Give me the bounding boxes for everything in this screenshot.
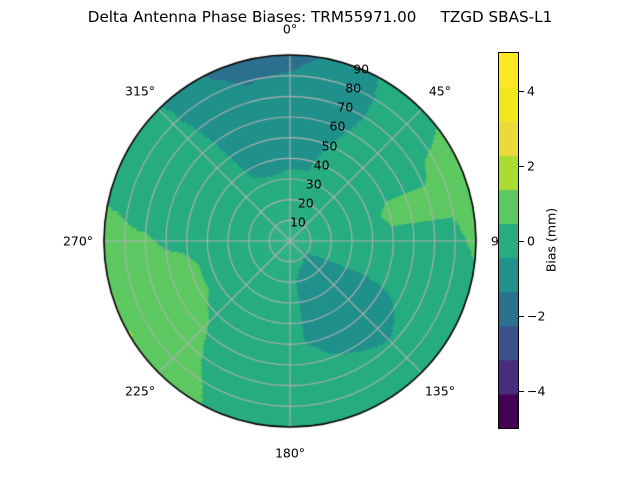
colorbar: 420−2−4 [499,53,518,428]
zenith-tick-label-40: 40 [314,157,330,172]
zenith-tick-label-20: 20 [298,195,314,210]
azimuth-tick-label-0: 0° [283,22,297,37]
colorbar-gradient [498,52,519,429]
colorbar-tick-mark [518,91,524,92]
azimuth-tick-label-180: 180° [275,446,305,461]
zenith-tick-label-30: 30 [306,176,322,191]
colorbar-tick-label: −4 [527,383,545,398]
azimuth-tick-label-45: 45° [429,84,451,99]
colorbar-tick-mark [518,241,524,242]
colorbar-tick-mark [518,316,524,317]
azimuth-tick-label-270: 270° [63,234,93,249]
figure-canvas: Delta Antenna Phase Biases: TRM55971.00 … [0,0,640,480]
colorbar-tick-mark [518,391,524,392]
zenith-tick-label-70: 70 [337,100,353,115]
azimuth-tick-label-135: 135° [425,383,455,398]
colorbar-tick-label: −2 [527,308,545,323]
colorbar-tick-label: 4 [527,83,535,98]
azimuth-tick-label-315: 315° [125,84,155,99]
zenith-tick-label-90: 90 [353,62,369,77]
zenith-tick-label-50: 50 [322,138,338,153]
azimuth-tick-label-225: 225° [125,383,155,398]
zenith-tick-label-60: 60 [330,119,346,134]
colorbar-tick-label: 0 [527,233,535,248]
colorbar-tick-label: 2 [527,158,535,173]
colorbar-axis-label: Bias (mm) [544,208,559,272]
zenith-tick-label-80: 80 [345,81,361,96]
colorbar-tick-mark [518,166,524,167]
zenith-tick-label-10: 10 [290,214,306,229]
